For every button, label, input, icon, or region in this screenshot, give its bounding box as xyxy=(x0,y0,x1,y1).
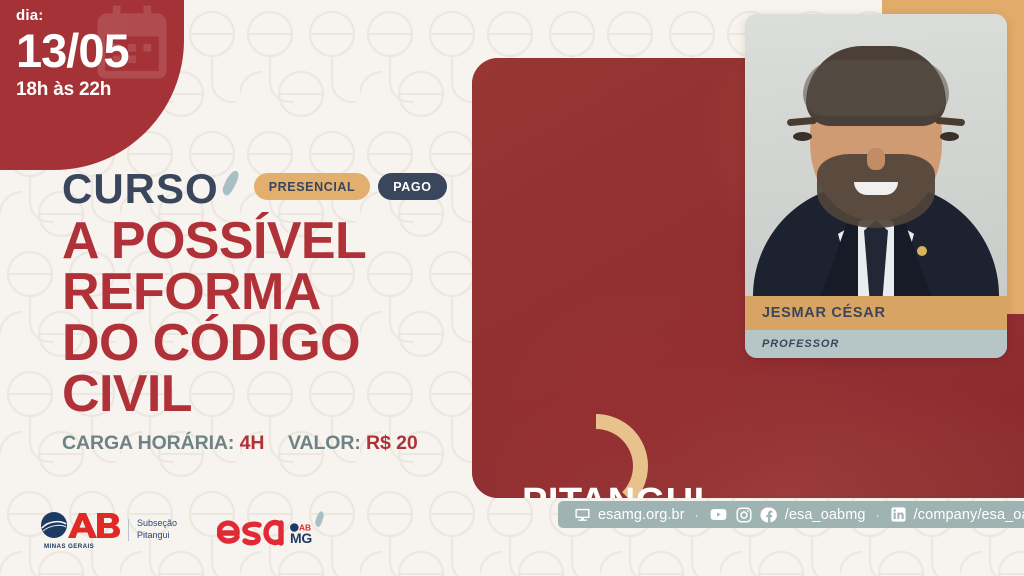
subsection-line-1: Subseção xyxy=(137,518,177,529)
separator-dot-1: · xyxy=(692,508,702,522)
speaker-name: JESMAR CÉSAR xyxy=(745,296,1007,330)
linkedin-icon[interactable] xyxy=(890,506,907,523)
instagram-icon[interactable] xyxy=(735,506,753,524)
oab-mark-icon: MINAS GERAIS xyxy=(38,512,120,547)
oab-logo: MINAS GERAIS Subseção Pitangui xyxy=(38,512,177,547)
portrait-smile xyxy=(854,182,898,195)
portrait-hair-highlight xyxy=(803,60,949,116)
esa-wordmark-icon xyxy=(217,513,285,547)
time-range: 18h às 22h xyxy=(16,80,129,99)
oab-state-label: MINAS GERAIS xyxy=(44,543,94,550)
city-name: PITANGUI xyxy=(522,483,705,498)
logo-row: MINAS GERAIS Subseção Pitangui xyxy=(38,512,314,547)
title-line-2: REFORMA xyxy=(62,267,462,318)
badge-pago[interactable]: PAGO xyxy=(378,173,446,200)
portrait-lapel-pin xyxy=(917,246,927,256)
kicker-label: CURSO xyxy=(62,168,219,210)
esa-logo: AB MG xyxy=(217,513,314,547)
city-block: PITANGUI MINAS GERAIS xyxy=(522,483,705,498)
price-value: R$ 20 xyxy=(366,432,418,454)
speaker-portrait xyxy=(745,14,1007,296)
esa-oab-mg: AB MG xyxy=(290,523,314,545)
portrait-nose xyxy=(867,148,885,170)
badge-presencial[interactable]: PRESENCIAL xyxy=(254,173,371,200)
date-value: 13/05 xyxy=(16,26,129,76)
kicker-row: CURSO PRESENCIAL PAGO xyxy=(62,168,462,210)
portrait-eye-right xyxy=(940,132,959,141)
monitor-icon xyxy=(574,506,591,523)
course-title: A POSSÍVEL REFORMA DO CÓDIGO CIVIL xyxy=(62,216,462,420)
title-line-3: DO CÓDIGO xyxy=(62,318,462,369)
oab-subsection: Subseção Pitangui xyxy=(137,518,177,541)
title-line-4: CIVIL xyxy=(62,369,462,420)
price-label: VALOR: xyxy=(288,432,361,454)
comma-mark-icon xyxy=(220,170,240,197)
linkedin-handle[interactable]: /company/esa_oabmg xyxy=(914,507,1024,523)
course-info-column: CURSO PRESENCIAL PAGO A POSSÍVEL REFORMA… xyxy=(62,168,462,455)
title-line-1: A POSSÍVEL xyxy=(62,216,462,267)
course-meta: CARGA HORÁRIA: 4H VALOR: R$ 20 xyxy=(62,432,462,455)
youtube-icon[interactable] xyxy=(709,505,728,524)
social-handle[interactable]: /esa_oabmg xyxy=(785,507,866,523)
facebook-icon[interactable] xyxy=(760,506,778,524)
portrait-eye-left xyxy=(793,132,812,141)
badge-group: PRESENCIAL PAGO xyxy=(254,173,447,200)
speaker-card: JESMAR CÉSAR PROFESSOR xyxy=(745,14,1007,358)
speaker-role: PROFESSOR xyxy=(745,330,1007,358)
subsection-line-2: Pitangui xyxy=(137,530,177,541)
website-url[interactable]: esamg.org.br xyxy=(598,507,685,523)
workload-label: CARGA HORÁRIA: xyxy=(62,432,234,454)
logo-divider xyxy=(128,519,129,541)
date-label: dia: xyxy=(16,8,129,23)
workload-value: 4H xyxy=(240,432,265,454)
poster-canvas: dia: 13/05 18h às 22h CURSO PRESENCIAL P… xyxy=(0,0,1024,576)
esa-mg-label: MG xyxy=(290,532,312,545)
social-footer-bar: esamg.org.br · /esa_oabmg · xyxy=(558,501,1024,528)
separator-dot-2: · xyxy=(873,508,883,522)
